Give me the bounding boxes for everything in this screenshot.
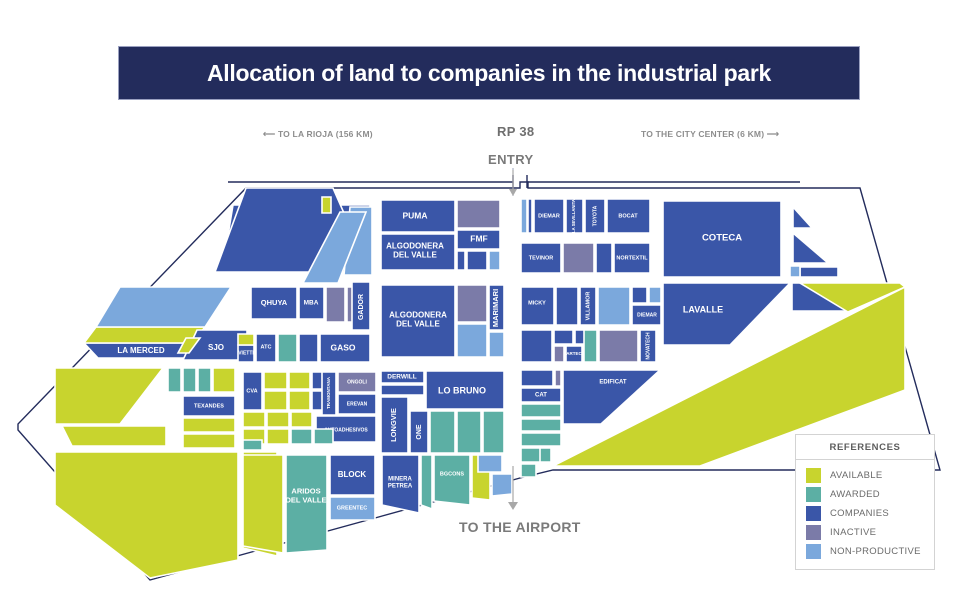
parcel[interactable] [410, 411, 428, 453]
legend-items: AVAILABLEAWARDEDCOMPANIESINACTIVENON-PRO… [796, 460, 934, 569]
parcel[interactable] [286, 455, 327, 553]
parcel[interactable] [264, 372, 287, 389]
parcel[interactable] [62, 426, 166, 446]
legend-label: NON-PRODUCTIVE [830, 546, 921, 557]
parcel[interactable] [614, 243, 650, 273]
parcel[interactable] [381, 371, 424, 383]
parcel[interactable] [632, 287, 647, 303]
parcel[interactable] [478, 455, 502, 472]
parcel[interactable] [338, 394, 376, 414]
parcel[interactable] [580, 287, 596, 325]
parcel[interactable] [489, 332, 504, 357]
parcel[interactable] [793, 207, 812, 228]
parcel[interactable] [554, 330, 573, 344]
parcel[interactable] [256, 334, 276, 362]
parcel[interactable] [489, 285, 504, 330]
parcel[interactable] [168, 368, 181, 392]
legend-swatch [806, 468, 821, 483]
parcel[interactable] [291, 412, 312, 427]
parcel[interactable] [322, 197, 331, 213]
legend-row[interactable]: AVAILABLE [806, 466, 934, 485]
parcel[interactable] [381, 234, 455, 270]
parcel[interactable] [338, 372, 376, 392]
parcel[interactable] [521, 243, 561, 273]
parcel[interactable] [299, 287, 324, 319]
parcel[interactable] [566, 199, 583, 233]
parcel[interactable] [322, 372, 336, 415]
parcel[interactable] [289, 372, 310, 389]
parcel[interactable] [238, 334, 254, 345]
parcel[interactable] [96, 287, 231, 327]
legend-row[interactable]: AWARDED [806, 485, 934, 504]
parcel[interactable] [213, 368, 235, 392]
legend-label: AVAILABLE [830, 470, 883, 481]
parcel[interactable] [55, 452, 238, 578]
legend-swatch [806, 487, 821, 502]
parcel[interactable] [555, 370, 561, 386]
parcel-layer: ROCCIANEBAGASNATILLAQHUYAMBAGADORLA MERC… [55, 188, 905, 578]
parcel[interactable] [267, 412, 289, 427]
parcel[interactable] [352, 282, 370, 330]
parcel[interactable] [467, 251, 487, 270]
legend-label: COMPANIES [830, 508, 889, 519]
parcel[interactable] [183, 368, 196, 392]
parcel[interactable] [790, 266, 800, 277]
parcel[interactable] [800, 267, 838, 277]
parcel[interactable] [663, 283, 790, 345]
infographic-root: Allocation of land to companies in the i… [0, 0, 975, 603]
parcel[interactable] [521, 448, 540, 462]
parcel[interactable] [55, 368, 163, 424]
parcel[interactable] [299, 334, 318, 362]
parcel[interactable] [556, 287, 578, 325]
parcel[interactable] [289, 391, 310, 410]
parcel[interactable] [607, 199, 650, 233]
parcel[interactable] [426, 371, 504, 409]
parcel[interactable] [251, 287, 297, 319]
legend-title: REFERENCES [796, 435, 934, 460]
parcel[interactable] [421, 455, 432, 509]
parcel[interactable] [489, 251, 500, 270]
parcel[interactable] [566, 346, 582, 362]
parcel[interactable] [793, 233, 828, 263]
legend-label: AWARDED [830, 489, 880, 500]
parcel[interactable] [264, 391, 287, 410]
parcel[interactable] [521, 287, 554, 325]
parcel[interactable] [330, 497, 375, 520]
parcel[interactable] [521, 199, 527, 233]
parcel[interactable] [598, 287, 630, 325]
parcel[interactable] [457, 285, 487, 322]
parcel[interactable] [457, 324, 487, 357]
legend-swatch [806, 506, 821, 521]
parcel[interactable] [430, 411, 455, 453]
parcel[interactable] [330, 455, 375, 495]
parcel[interactable] [183, 434, 235, 448]
parcel[interactable] [457, 230, 500, 249]
legend-row[interactable]: NON-PRODUCTIVE [806, 542, 934, 561]
parcel[interactable] [599, 330, 638, 362]
parcel[interactable] [314, 429, 333, 444]
parcel[interactable] [434, 455, 470, 505]
parcel[interactable] [243, 440, 262, 450]
parcel[interactable] [521, 404, 561, 417]
parcel[interactable] [521, 433, 561, 446]
parcel[interactable] [183, 418, 235, 432]
legend-swatch [806, 525, 821, 540]
parcel[interactable] [554, 346, 564, 362]
parcel[interactable] [320, 334, 370, 362]
parcel[interactable] [381, 200, 455, 232]
legend-box: REFERENCES AVAILABLEAWARDEDCOMPANIESINAC… [795, 434, 935, 570]
parcel[interactable] [521, 388, 561, 402]
parcel[interactable] [521, 330, 552, 362]
legend-row[interactable]: INACTIVE [806, 523, 934, 542]
parcel[interactable] [534, 199, 564, 233]
parcel[interactable] [183, 396, 235, 416]
parcel[interactable] [649, 287, 661, 303]
parcel[interactable] [640, 330, 656, 362]
parcel[interactable] [528, 199, 532, 233]
legend-label: INACTIVE [830, 527, 876, 538]
parcel[interactable] [521, 419, 561, 431]
parcel[interactable] [238, 345, 254, 362]
parcel[interactable] [632, 305, 661, 325]
legend-swatch [806, 544, 821, 559]
parcel[interactable] [521, 464, 536, 477]
parcel[interactable] [563, 243, 594, 273]
parcel[interactable] [585, 199, 605, 233]
parcel[interactable] [584, 330, 597, 362]
parcel[interactable] [521, 370, 553, 386]
parcel[interactable] [381, 385, 424, 395]
parcel[interactable] [243, 455, 283, 553]
parcel[interactable] [381, 397, 408, 453]
parcel[interactable] [596, 243, 612, 273]
legend-row[interactable]: COMPANIES [806, 504, 934, 523]
parcel[interactable] [457, 411, 481, 453]
parcel[interactable] [663, 201, 781, 277]
parcel[interactable] [278, 334, 297, 362]
parcel[interactable] [563, 370, 660, 424]
parcel[interactable] [326, 287, 345, 322]
parcel[interactable] [243, 412, 265, 427]
parcel[interactable] [457, 251, 465, 270]
parcel[interactable] [243, 372, 262, 410]
parcel[interactable] [267, 429, 289, 444]
parcel[interactable] [457, 200, 500, 228]
parcel[interactable] [492, 474, 512, 496]
parcel[interactable] [483, 411, 504, 453]
parcel[interactable] [382, 455, 419, 513]
parcel[interactable] [381, 285, 455, 357]
parcel[interactable] [198, 368, 211, 392]
parcel[interactable] [291, 429, 312, 444]
